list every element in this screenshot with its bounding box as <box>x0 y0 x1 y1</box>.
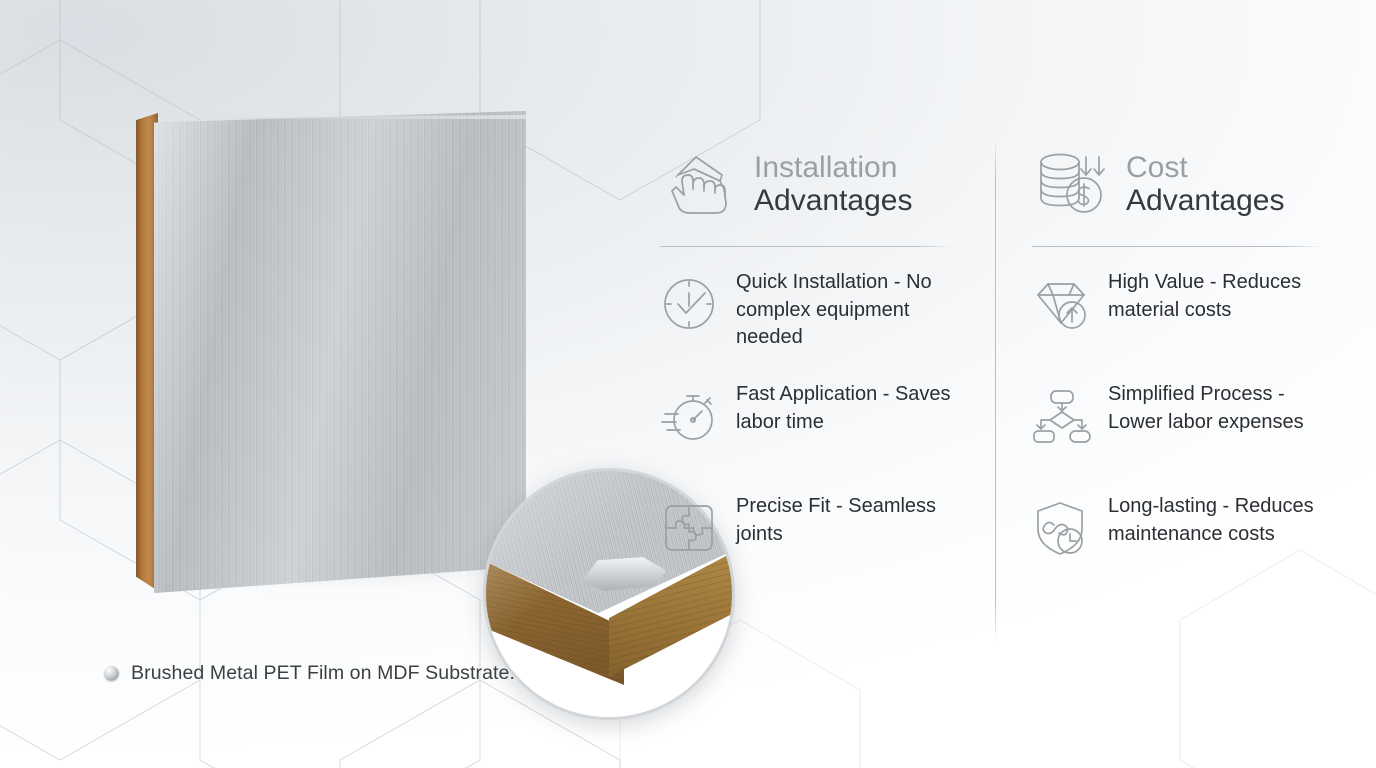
list-item[interactable]: Long-lasting - Reduces maintenance costs <box>1032 493 1360 605</box>
clock-check-icon <box>660 275 718 333</box>
coin-stack-down-arrow-icon <box>1032 145 1110 223</box>
flowchart-icon <box>1032 387 1090 445</box>
cost-title: Cost Advantages <box>1126 151 1284 217</box>
hand-applying-film-icon <box>660 145 738 223</box>
caption-text: Brushed Metal PET Film on MDF Substrate. <box>131 662 515 685</box>
list-item[interactable]: Simplified Process - Lower labor expense… <box>1032 381 1360 493</box>
list-item-text: Long-lasting - Reduces maintenance costs <box>1108 493 1333 548</box>
cost-items: High Value - Reduces material costs <box>1032 269 1360 605</box>
advantages-columns: Installation Advantages Quick I <box>660 130 1360 660</box>
installation-title: Installation Advantages <box>754 151 912 217</box>
cost-title-line1: Cost <box>1126 151 1284 184</box>
column-cost-advantages: Cost Advantages High Value - Re <box>996 130 1360 660</box>
list-item-text: Simplified Process - Lower labor expense… <box>1108 381 1333 436</box>
puzzle-pieces-icon <box>660 499 718 557</box>
installation-header: Installation Advantages <box>660 130 988 238</box>
cost-title-line2: Advantages <box>1126 184 1284 217</box>
list-item-text: High Value - Reduces material costs <box>1108 269 1333 324</box>
list-item[interactable]: Quick Installation - No complex equipmen… <box>660 269 988 381</box>
list-item[interactable]: Precise Fit - Seamless joints <box>660 493 988 605</box>
cost-header: Cost Advantages <box>1032 130 1360 238</box>
metal-sphere-bullet-icon <box>104 666 119 681</box>
list-item-text: Precise Fit - Seamless joints <box>736 493 951 548</box>
list-item[interactable]: Fast Application - Saves labor time <box>660 381 988 493</box>
stopwatch-speed-icon <box>660 387 718 445</box>
shield-infinity-clock-icon <box>1032 499 1090 557</box>
brushed-metal-face <box>154 111 526 593</box>
cost-header-rule <box>1032 246 1322 247</box>
column-installation-advantages: Installation Advantages Quick I <box>660 130 996 660</box>
diamond-up-arrow-icon <box>1032 275 1090 333</box>
product-panel-image <box>110 95 630 615</box>
list-item-text: Fast Application - Saves labor time <box>736 381 951 436</box>
installation-items: Quick Installation - No complex equipmen… <box>660 269 988 605</box>
infographic-canvas: Brushed Metal PET Film on MDF Substrate. <box>0 0 1376 768</box>
installation-title-line1: Installation <box>754 151 912 184</box>
caption: Brushed Metal PET Film on MDF Substrate. <box>104 662 515 685</box>
list-item[interactable]: High Value - Reduces material costs <box>1032 269 1360 381</box>
list-item-text: Quick Installation - No complex equipmen… <box>736 269 951 352</box>
installation-header-rule <box>660 246 952 247</box>
installation-title-line2: Advantages <box>754 184 912 217</box>
